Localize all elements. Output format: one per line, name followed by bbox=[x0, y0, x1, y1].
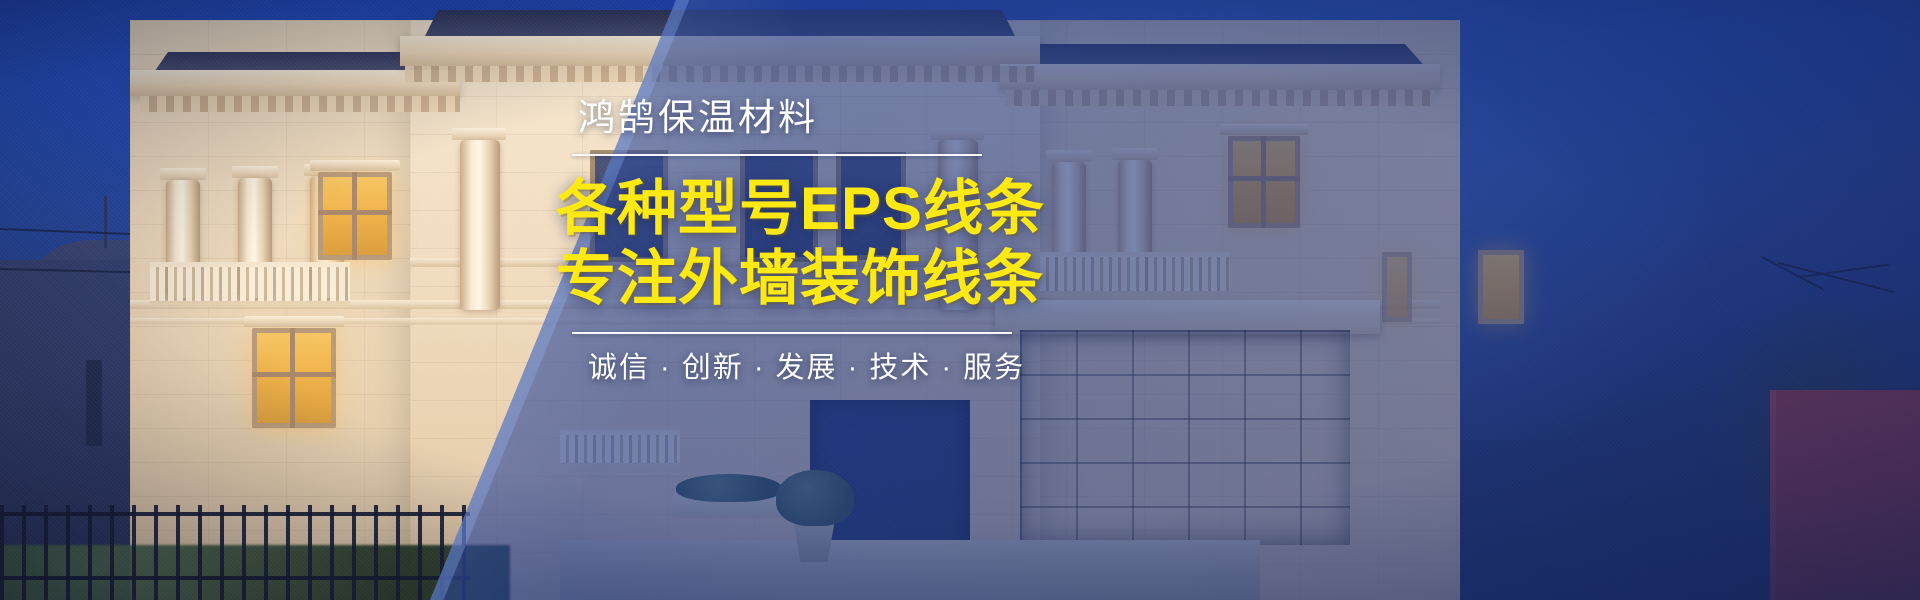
lit-window bbox=[1382, 252, 1412, 322]
shrub bbox=[676, 474, 782, 502]
dentil-moulding bbox=[140, 96, 460, 112]
lit-window bbox=[1478, 250, 1524, 324]
window-hood bbox=[310, 160, 400, 171]
column-capital bbox=[160, 168, 206, 180]
antenna-mast-icon bbox=[104, 196, 107, 248]
divider-top bbox=[572, 154, 982, 156]
balustrade bbox=[560, 430, 680, 469]
balustrade bbox=[1040, 252, 1230, 297]
window-hood bbox=[244, 316, 344, 327]
entrance-steps bbox=[560, 540, 1260, 600]
shrub bbox=[776, 470, 854, 526]
cornice bbox=[400, 36, 1040, 66]
window-mullion bbox=[290, 328, 295, 428]
window-mullion bbox=[352, 172, 357, 260]
fence-rail bbox=[0, 576, 470, 580]
cornice bbox=[1000, 64, 1440, 90]
column-capital bbox=[1112, 148, 1158, 160]
window-mullion bbox=[252, 372, 336, 377]
red-panel bbox=[1770, 390, 1920, 600]
iron-fence bbox=[0, 505, 470, 600]
window-mullion bbox=[1261, 136, 1266, 228]
column-capital bbox=[232, 166, 278, 178]
promo-banner: 鸿鹄保温材料 各种型号EPS线条 专注外墙装饰线条 诚信 · 创新 · 发展 ·… bbox=[0, 0, 1920, 600]
headline: 各种型号EPS线条 专注外墙装饰线条 bbox=[556, 174, 1045, 314]
garage-door bbox=[1020, 330, 1350, 545]
divider-bottom bbox=[572, 332, 1012, 334]
balustrade bbox=[150, 262, 350, 307]
window-hood bbox=[1220, 124, 1308, 135]
lit-window bbox=[252, 328, 336, 428]
dentil-moulding bbox=[405, 66, 1035, 82]
garage-header bbox=[995, 300, 1380, 334]
dentil-moulding bbox=[1005, 90, 1435, 106]
column bbox=[460, 140, 500, 310]
column-capital bbox=[1046, 150, 1092, 162]
distant-window bbox=[86, 360, 102, 446]
window-mullion bbox=[1228, 176, 1300, 181]
banner-text-block: 鸿鹄保温材料 各种型号EPS线条 专注外墙装饰线条 诚信 · 创新 · 发展 ·… bbox=[556, 96, 1026, 386]
lit-window bbox=[318, 172, 392, 260]
tagline: 诚信 · 创新 · 发展 · 技术 · 服务 bbox=[588, 351, 1025, 386]
fence-rail bbox=[0, 512, 470, 516]
column-capital bbox=[452, 128, 506, 140]
window-mullion bbox=[318, 210, 392, 215]
headline-line-2: 专注外墙装饰线条 bbox=[556, 244, 1045, 314]
brand-name: 鸿鹄保温材料 bbox=[578, 96, 818, 140]
lit-window bbox=[1228, 136, 1300, 228]
headline-line-1: 各种型号EPS线条 bbox=[556, 174, 1045, 244]
